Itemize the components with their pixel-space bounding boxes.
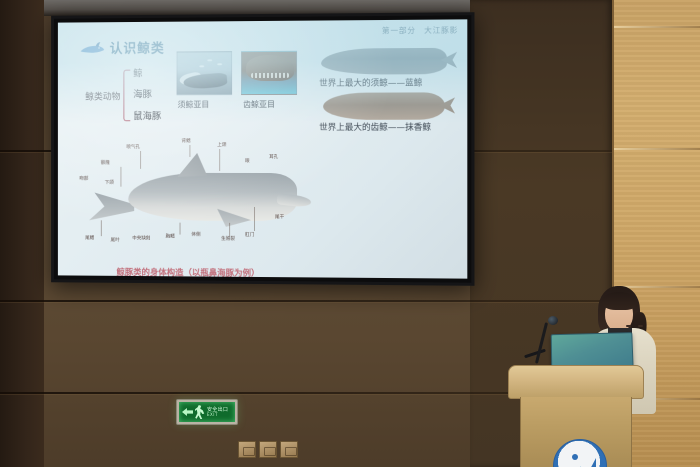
anatomy-label: 中央缺刻 — [132, 236, 150, 241]
projection-screen-frame: 第一部分 大江豚影 认识鲸类 鲸类动物 鲸 海豚 — [51, 12, 474, 286]
classification-items: 鲸 海豚 鼠海豚 — [133, 69, 161, 121]
university-emblem-icon — [553, 439, 607, 467]
eye — [626, 325, 631, 327]
podium-top — [508, 365, 644, 399]
running-man-icon — [195, 405, 205, 419]
anatomy-label: 体侧 — [191, 233, 200, 238]
whale-icon — [79, 41, 104, 55]
anatomy-label: 生殖裂 — [221, 237, 235, 242]
wall-socket[interactable] — [238, 441, 256, 458]
wall-socket-group — [238, 441, 298, 458]
anatomy-label: 下颌 — [105, 181, 114, 186]
slide-header-text: 第一部分 大江豚影 — [382, 24, 458, 36]
eye — [638, 325, 643, 327]
sperm-whale-illustration — [323, 92, 445, 120]
slide-title: 认识鲸类 — [110, 38, 165, 57]
podium — [508, 365, 644, 467]
dorsal-fin-shape — [178, 153, 208, 177]
anatomy-label: 上颌 — [217, 143, 226, 148]
left-arrow-icon — [182, 408, 193, 416]
blue-whale-illustration — [321, 48, 447, 75]
toothed-whale-caption: 齿鲸亚目 — [243, 99, 275, 110]
classification-item: 鲸 — [133, 69, 161, 79]
classification-block: 鲸类动物 鲸 海豚 鼠海豚 — [85, 69, 161, 121]
classification-label: 鲸类动物 — [85, 89, 120, 102]
wall-seam — [0, 300, 612, 302]
anatomy-label: 胸鳍 — [166, 234, 175, 239]
wall-socket[interactable] — [280, 441, 298, 458]
anatomy-label: 额隆 — [101, 161, 110, 166]
projection-screen-surface: 第一部分 大江豚影 认识鲸类 鲸类动物 鲸 海豚 — [58, 19, 467, 278]
dolphin-body-shape — [128, 173, 297, 221]
anatomy-label: 喷气孔 — [126, 145, 140, 150]
sperm-whale-caption: 世界上最大的齿鲸——抹香鲸 — [319, 121, 431, 133]
fringe — [602, 292, 636, 310]
anatomy-label: 耳孔 — [269, 155, 278, 160]
exit-sign-text-en: EXIT — [207, 413, 228, 417]
baleen-whale-photo — [177, 51, 233, 95]
diagram-caption: 鲸豚类的身体构造（以瓶鼻海豚为例） — [117, 266, 260, 279]
brace-icon — [123, 70, 130, 122]
baleen-whale-caption: 须鲸亚目 — [178, 99, 210, 110]
blue-whale-caption: 世界上最大的须鲸——蓝鲸 — [319, 76, 422, 89]
microphone-head-icon — [548, 316, 558, 325]
presentation-slide: 第一部分 大江豚影 认识鲸类 鲸类动物 鲸 海豚 — [58, 19, 467, 278]
anatomy-label: 尾鳍 — [85, 236, 94, 241]
dolphin-anatomy-diagram: 背鳍 喷气孔 额隆 上颌 吻部 下颌 眼 耳孔 胸鳍 生殖裂 肛门 尾干 尾鳍 … — [72, 137, 370, 278]
anatomy-label: 背鳍 — [182, 139, 191, 144]
classification-item: 海豚 — [133, 91, 161, 101]
podium-body — [520, 397, 632, 467]
classification-item: 鼠海豚 — [133, 112, 161, 121]
anatomy-label: 尾叶 — [111, 238, 120, 243]
slide-title-row: 认识鲸类 — [79, 38, 164, 57]
toothed-whale-photo — [241, 51, 297, 95]
wall-panel-dark-left — [0, 0, 44, 467]
anatomy-label: 吻部 — [79, 177, 88, 182]
lecture-hall-scene: 第一部分 大江豚影 认识鲸类 鲸类动物 鲸 海豚 — [0, 0, 700, 467]
anatomy-label: 眼 — [245, 159, 250, 164]
anatomy-label: 肛门 — [245, 233, 254, 238]
anatomy-label: 尾干 — [275, 215, 284, 220]
emergency-exit-sign: 安全出口 EXIT — [176, 399, 238, 425]
wall-socket[interactable] — [259, 441, 277, 458]
